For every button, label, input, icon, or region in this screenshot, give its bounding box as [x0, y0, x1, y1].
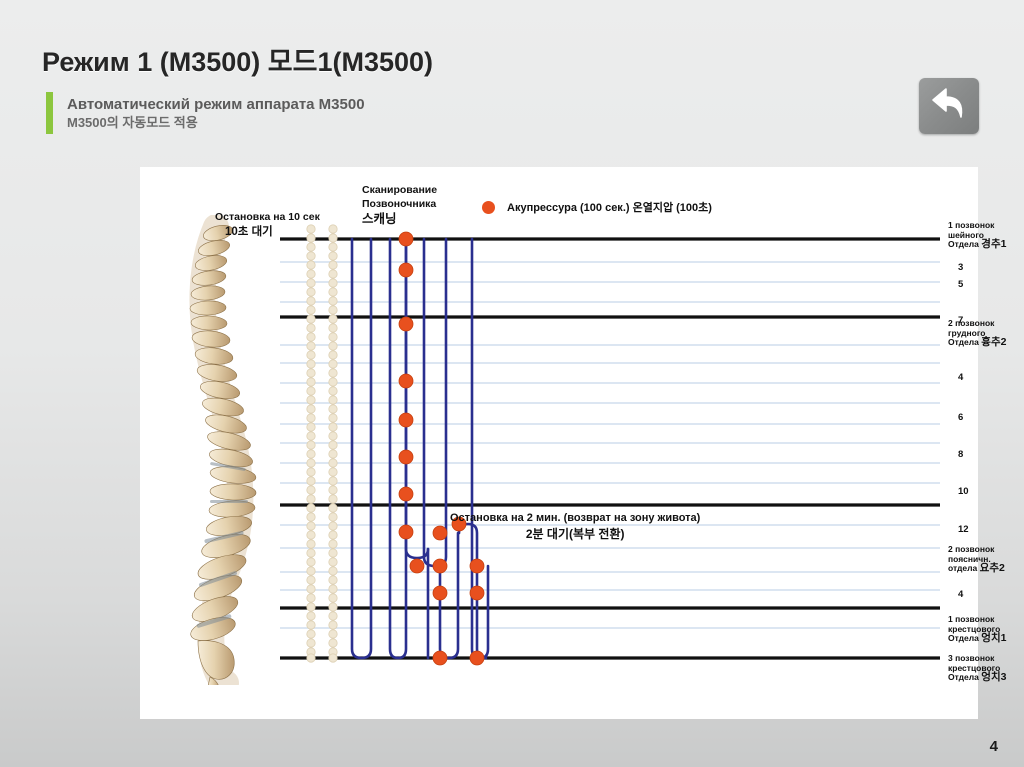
vertebra-label-lumbar-2: 2 позвонок поясничн. отдела 요추2: [948, 545, 1005, 574]
vertebra-number-12: 12: [958, 524, 969, 535]
accent-bar: [46, 92, 53, 134]
vertebra-label-korean: 흉추2: [981, 336, 1006, 348]
legend-scanning-ko: 스캐닝: [362, 211, 437, 227]
vertebra-label-thoracic-2: 2 позвонок грудного Отдела 흉추2: [948, 319, 1006, 348]
vertebra-number-4-thoracic: 4: [958, 372, 963, 383]
legend-scanning-ru-1: Сканирование: [362, 183, 437, 197]
vertebra-label-line: Отдела 엉치3: [948, 673, 1006, 683]
chart-area: Остановка на 10 сек 10초 대기 Сканирование …: [140, 167, 978, 719]
vertebra-number-3: 3: [958, 262, 963, 273]
chart-panel: Остановка на 10 сек 10초 대기 Сканирование …: [140, 167, 978, 719]
vertebra-label-cervical-1: 1 позвонок шейного Отдела 경추1: [948, 221, 1006, 250]
legend-acupressure: Акупрессура (100 сек.) 온열지압 (100초): [482, 199, 712, 215]
vertebra-number-6: 6: [958, 412, 963, 423]
annotation-stop-2min: Остановка на 2 мин. (возврат на зону жив…: [450, 511, 700, 542]
vertebra-label-line: Отдела 흉추2: [948, 338, 1006, 348]
chart-plot: [140, 167, 978, 719]
bead-chain-2: [329, 225, 337, 662]
bead-chain-1: [307, 225, 315, 662]
legend-stop-10sec-ru: Остановка на 10 сек: [215, 211, 320, 223]
vertebra-number-4-lumbar: 4: [958, 589, 963, 600]
vertebra-label-line: отдела 요추2: [948, 564, 1005, 574]
vertebra-label-line: Отдела 경추1: [948, 240, 1006, 250]
page-title: Режим 1 (M3500) 모드1(M3500): [42, 40, 433, 79]
vertebra-number-10: 10: [958, 486, 969, 497]
legend-scanning: Сканирование Позвоночника 스캐닝: [362, 183, 437, 227]
vertebra-label-korean: 요추2: [980, 562, 1005, 574]
legend-scanning-ru-2: Позвоночника: [362, 197, 437, 211]
back-button[interactable]: [919, 78, 979, 134]
legend-stop-10sec: Остановка на 10 сек 10초 대기: [215, 211, 320, 239]
vertebra-number-5: 5: [958, 279, 963, 290]
annotation-stop-2min-ko: 2분 대기(복부 전환): [450, 526, 700, 542]
annotation-stop-2min-ru: Остановка на 2 мин. (возврат на зону жив…: [450, 511, 700, 526]
back-arrow-icon: [930, 87, 968, 126]
subtitle-block: Автоматический режим аппарата M3500 M350…: [46, 92, 365, 134]
vertebra-label-line: Отдела 엉치1: [948, 634, 1006, 644]
legend-stop-10sec-ko: 10초 대기: [225, 223, 320, 239]
vertebra-number-8: 8: [958, 449, 963, 460]
vertebra-label-sacral-3: 3 позвонок крестцового Отдела 엉치3: [948, 654, 1006, 683]
acupressure-dot-icon: [482, 201, 495, 214]
subtitle-korean: M3500의 자동모드 적용: [67, 114, 365, 131]
subtitle-text: Автоматический режим аппарата M3500 M350…: [67, 92, 365, 134]
legend-acupressure-label: Акупрессура (100 сек.) 온열지압 (100초): [507, 199, 712, 215]
subtitle-russian: Автоматический режим аппарата M3500: [67, 95, 365, 114]
vertebra-label-korean: 엉치3: [981, 671, 1006, 683]
vertebra-label-korean: 경추1: [981, 238, 1006, 250]
vertebra-label-sacral-1: 1 позвонок крестцового Отдела 엉치1: [948, 615, 1006, 644]
vertebra-label-column: 1 позвонок шейного Отдела 경추1 3 5 7 2 по…: [940, 167, 1024, 719]
vertebra-label-korean: 엉치1: [981, 632, 1006, 644]
page-number: 4: [990, 738, 998, 755]
slide-root: Режим 1 (M3500) 모드1(M3500) Автоматически…: [0, 0, 1024, 767]
